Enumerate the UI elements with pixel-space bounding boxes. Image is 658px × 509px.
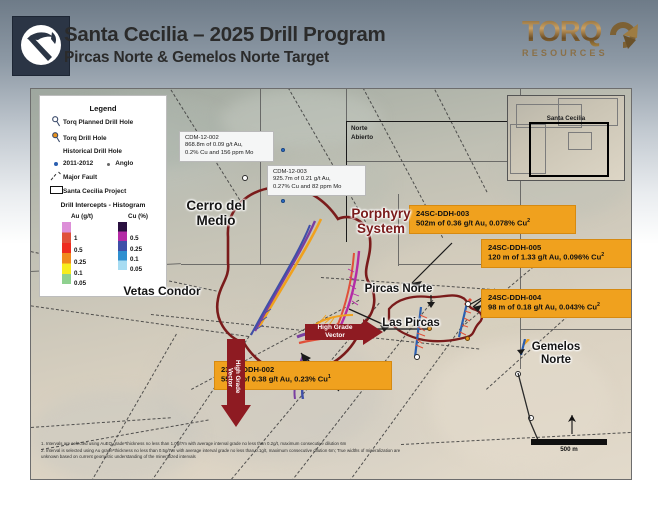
historical-callout-cdm-12-002[interactable]: CDM-12-002 868.8m of 0.09 g/t Au, 0.2% C… [179, 131, 274, 162]
legend-label: Torq Drill Hole [63, 135, 107, 142]
north-arrow-icon [565, 415, 579, 435]
result-callout-24sc-ddh-003[interactable]: 24SC-DDH-003 502m of 0.36 g/t Au, 0.078%… [409, 205, 576, 234]
map-legend: Legend Torq Planned Drill Hole Torq Dril… [39, 95, 167, 297]
torq-drill-hole-marker[interactable] [465, 336, 470, 341]
planned-drill-hole-marker[interactable] [515, 371, 521, 377]
historical-callout-cdm-12-003[interactable]: CDM-12-003 925.7m of 0.21 g/t Au, 0.27% … [267, 165, 366, 196]
callout-value: 120 m of 1.33 g/t Au, 0.096% Cu2 [488, 252, 632, 262]
inset-focus-rect [529, 122, 609, 177]
label-cerro-del-medio: Cerro delMedio [161, 199, 271, 229]
callout-id: 24SC-DDH-004 [488, 293, 632, 302]
result-callout-24sc-ddh-005[interactable]: 24SC-DDH-005 120 m of 1.33 g/t Au, 0.096… [481, 239, 632, 268]
au-scale: Au (g/t) 1 0.5 0.25 0.1 0.05 [54, 213, 110, 284]
high-grade-vector-down-label: High GradeVector [226, 347, 241, 407]
callout-line1: 868.8m of 0.09 g/t Au, [185, 142, 268, 150]
slide-root: Santa Cecilia – 2025 Drill Program Pirca… [0, 0, 658, 509]
scale-bar-graphic [531, 439, 607, 445]
major-fault-line [31, 417, 171, 428]
label-las-pircas: Las Pircas [361, 317, 461, 330]
legend-item-historical-years: 2011-2012 Anglo [49, 158, 166, 168]
pickaxe-icon [22, 26, 60, 64]
cu-scale-ticks: 0.5 0.25 0.1 0.05 [130, 222, 162, 270]
callout-id: 24SC-DDH-003 [416, 209, 569, 218]
label-pircas-norte: Pircas Norte [341, 283, 456, 296]
blue-dot-icon [49, 158, 63, 168]
legend-label: Torq Planned Drill Hole [63, 119, 133, 126]
planned-drill-hole-marker[interactable] [414, 354, 420, 360]
legend-label-anglo: Anglo [115, 160, 133, 167]
claim-line [261, 264, 351, 265]
callout-id: CDM-12-003 [273, 169, 360, 177]
legend-label: Major Fault [63, 174, 97, 181]
legend-label: Santa Cecilia Project [63, 188, 126, 195]
label-vetas-condor: Vetas Condor [87, 285, 237, 298]
au-scale-header: Au (g/t) [54, 213, 110, 220]
major-fault-icon [49, 171, 63, 183]
torq-swoosh-icon [606, 18, 640, 52]
high-grade-vector-right-label: High GradeVector [307, 324, 363, 340]
cu-scale: Cu (%) 0.5 0.25 0.1 0.05 [110, 213, 166, 284]
claim-line [260, 89, 261, 265]
map-canvas[interactable]: NorteAbierto [30, 88, 632, 480]
callout-value: 98 m of 0.18 g/t Au, 0.043% Cu2 [488, 302, 632, 312]
norte-abierto-label: NorteAbierto [351, 125, 373, 142]
callout-line2: 0.27% Cu and 82 ppm Mo [273, 184, 360, 192]
legend-label: 2011-2012 [63, 160, 93, 167]
legend-item-drill-hole: Torq Drill Hole [49, 132, 166, 145]
footnote-1: 1. Intervals are selected using AuEQ gra… [41, 441, 401, 448]
location-inset-map[interactable]: Santa Cecilia [507, 95, 625, 181]
callout-line2: 0.2% Cu and 156 ppm Mo [185, 150, 268, 158]
historical-drill-hole-marker[interactable] [281, 199, 285, 203]
au-scale-ticks: 1 0.5 0.25 0.1 0.05 [74, 222, 106, 284]
title-block: Santa Cecilia – 2025 Drill Program Pirca… [64, 24, 484, 67]
planned-drill-hole-marker[interactable] [528, 415, 534, 421]
project-rect-icon [49, 186, 63, 196]
drill-hole-icon [49, 132, 63, 145]
legend-title: Legend [40, 104, 166, 113]
torq-logo: TORQ RESOURCES [522, 18, 642, 66]
page-subtitle: Pircas Norte & Gemelos Norte Target [64, 49, 484, 67]
cu-scale-header: Cu (%) [110, 213, 166, 220]
planned-drill-hole-icon [49, 116, 63, 129]
project-logo [12, 16, 70, 76]
scale-bar-label: 500 m [531, 446, 607, 453]
historical-drill-hole-marker[interactable] [281, 148, 285, 152]
legend-item-project-area: Santa Cecilia Project [49, 186, 166, 196]
planned-drill-hole-marker[interactable] [465, 301, 471, 307]
callout-id: CDM-12-002 [185, 135, 268, 143]
au-color-bar [62, 222, 71, 284]
callout-line1: 925.7m of 0.21 g/t Au, [273, 176, 360, 184]
result-callout-24sc-ddh-004[interactable]: 24SC-DDH-004 98 m of 0.18 g/t Au, 0.043%… [481, 289, 632, 318]
footnote-2: 2. Interval is selected using Au grade*t… [41, 448, 401, 461]
scale-bar: 500 m [531, 439, 607, 453]
claim-line [521, 329, 631, 330]
footnotes: 1. Intervals are selected using AuEQ gra… [41, 441, 401, 461]
planned-drill-hole-marker[interactable] [242, 175, 248, 181]
legend-color-scales: Au (g/t) 1 0.5 0.25 0.1 0.05 Cu (%) [40, 213, 166, 284]
slide-header: Santa Cecilia – 2025 Drill Program Pirca… [0, 0, 658, 88]
cu-color-bar [118, 222, 127, 270]
callout-id: 24SC-DDH-005 [488, 243, 632, 252]
legend-item-planned-drill-hole: Torq Planned Drill Hole [49, 116, 166, 129]
label-gemelos-norte: GemelosNorte [511, 341, 601, 366]
page-title: Santa Cecilia – 2025 Drill Program [64, 24, 484, 47]
callout-value: 502m of 0.36 g/t Au, 0.078% Cu2 [416, 218, 569, 228]
terrain-patch [31, 389, 201, 480]
legend-historical-heading: Historical Drill Hole [63, 148, 166, 155]
legend-item-major-fault: Major Fault [49, 171, 166, 183]
gray-dot-icon [101, 158, 115, 168]
claim-line [181, 264, 261, 265]
inset-label: Santa Cecilia [508, 115, 624, 122]
label-porphyry-system: PorphyrySystem [331, 207, 431, 237]
legend-histogram-title: Drill Intercepts - Histogram [40, 202, 166, 209]
